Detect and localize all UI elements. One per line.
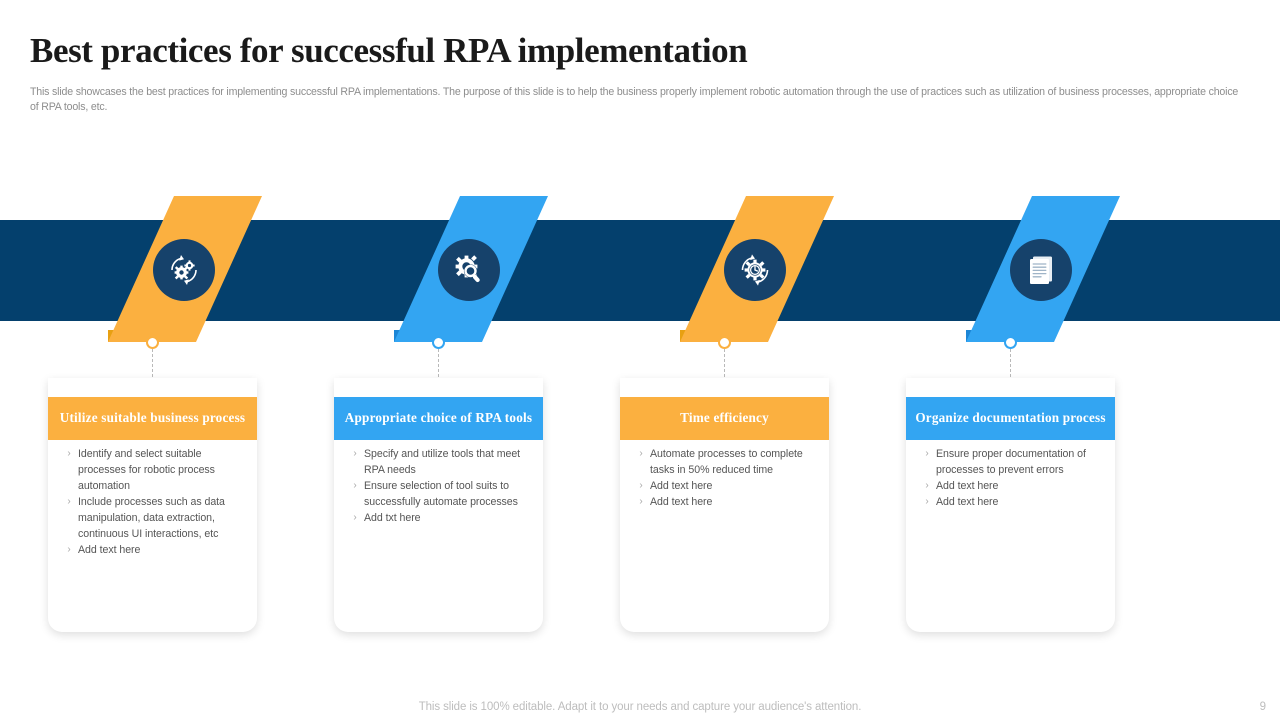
clock-refresh-icon (735, 250, 775, 290)
card-top-strip (906, 378, 1115, 397)
documents-icon (1024, 253, 1058, 287)
step-card-1[interactable]: Utilize suitable business process › Iden… (48, 378, 257, 632)
list-item: › Add text here (918, 494, 1105, 510)
page-number: 9 (1260, 701, 1266, 713)
connector-top-dot (718, 336, 731, 349)
card-top-strip (620, 378, 829, 397)
step-card-2-title: Appropriate choice of RPA tools (334, 397, 543, 440)
connector-top-dot (146, 336, 159, 349)
list-item: › Ensure proper documentation of process… (918, 446, 1105, 478)
card-top-strip (334, 378, 543, 397)
list-item: › Ensure selection of tool suits to succ… (346, 478, 533, 510)
chevron-right-icon: › (346, 510, 364, 526)
list-item-text: Add text here (650, 494, 819, 510)
connector-top-dot (432, 336, 445, 349)
list-item-text: Identify and select suitable processes f… (78, 446, 247, 494)
connector-top-dot (1004, 336, 1017, 349)
list-item-text: Ensure proper documentation of processes… (936, 446, 1105, 478)
list-item-text: Add text here (936, 494, 1105, 510)
gears-refresh-icon (164, 250, 204, 290)
step-card-1-bullets: › Identify and select suitable processes… (60, 446, 247, 558)
chevron-right-icon: › (918, 478, 936, 494)
step-card-4-bullets: › Ensure proper documentation of process… (918, 446, 1105, 510)
list-item-text: Automate processes to complete tasks in … (650, 446, 819, 478)
list-item-text: Add txt here (364, 510, 533, 526)
step-card-3-bullets: › Automate processes to complete tasks i… (632, 446, 819, 510)
list-item-text: Ensure selection of tool suits to succes… (364, 478, 533, 510)
step-card-3[interactable]: Time efficiency › Automate processes to … (620, 378, 829, 632)
footer-note: This slide is 100% editable. Adapt it to… (0, 701, 1280, 713)
list-item: › Specify and utilize tools that meet RP… (346, 446, 533, 478)
chevron-right-icon: › (60, 494, 78, 510)
list-item: › Add txt here (346, 510, 533, 526)
chevron-right-icon: › (346, 478, 364, 494)
gear-magnifier-icon (450, 251, 488, 289)
step-card-2-bullets: › Specify and utilize tools that meet RP… (346, 446, 533, 526)
step-card-4-title: Organize documentation process (906, 397, 1115, 440)
list-item: › Automate processes to complete tasks i… (632, 446, 819, 478)
chevron-right-icon: › (60, 446, 78, 462)
step-3-icon-badge (724, 239, 786, 301)
list-item-text: Specify and utilize tools that meet RPA … (364, 446, 533, 478)
chevron-right-icon: › (632, 478, 650, 494)
chevron-right-icon: › (918, 494, 936, 510)
list-item: › Add text here (60, 542, 247, 558)
step-card-2[interactable]: Appropriate choice of RPA tools › Specif… (334, 378, 543, 632)
list-item: › Add text here (918, 478, 1105, 494)
step-card-3-title: Time efficiency (620, 397, 829, 440)
step-4-icon-badge (1010, 239, 1072, 301)
card-top-strip (48, 378, 257, 397)
step-card-1-title: Utilize suitable business process (48, 397, 257, 440)
list-item-text: Add text here (650, 478, 819, 494)
chevron-right-icon: › (632, 494, 650, 510)
step-1-icon-badge (153, 239, 215, 301)
chevron-right-icon: › (918, 446, 936, 462)
chevron-right-icon: › (346, 446, 364, 462)
list-item-text: Include processes such as data manipulat… (78, 494, 247, 542)
list-item: › Identify and select suitable processes… (60, 446, 247, 494)
chevron-right-icon: › (60, 542, 78, 558)
chevron-right-icon: › (632, 446, 650, 462)
page-subtitle: This slide showcases the best practices … (30, 85, 1245, 114)
list-item: › Include processes such as data manipul… (60, 494, 247, 542)
list-item-text: Add text here (78, 542, 247, 558)
step-card-4[interactable]: Organize documentation process › Ensure … (906, 378, 1115, 632)
step-2-icon-badge (438, 239, 500, 301)
list-item-text: Add text here (936, 478, 1105, 494)
page-title: Best practices for successful RPA implem… (30, 30, 1250, 72)
list-item: › Add text here (632, 494, 819, 510)
slide-canvas: Best practices for successful RPA implem… (0, 0, 1280, 720)
list-item: › Add text here (632, 478, 819, 494)
